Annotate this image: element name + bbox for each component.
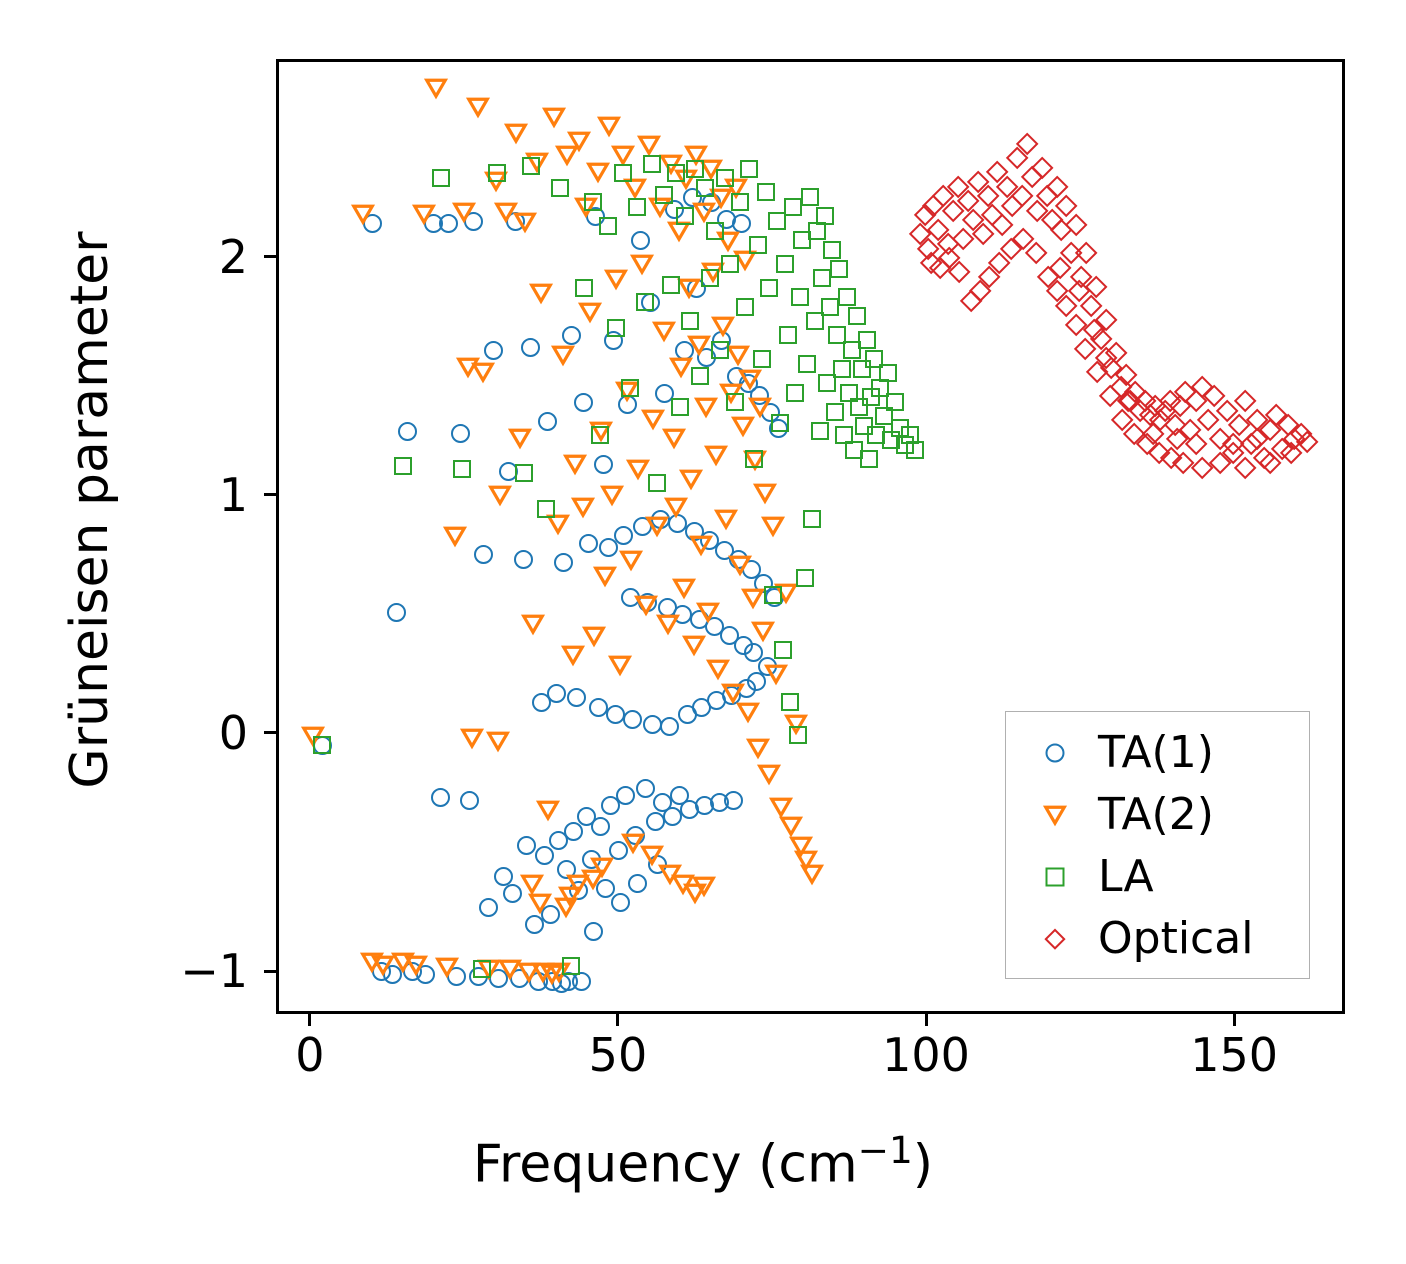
data-point-ta2 [670,357,692,376]
data-point-ta2 [591,857,613,876]
data-point-ta2 [583,626,605,645]
legend-triangle-down-icon [1032,795,1078,835]
data-point-ta2 [579,302,601,321]
data-point-ta2 [758,764,780,783]
data-point-ta2 [657,614,679,633]
data-point-ta2 [695,398,717,417]
data-point-ta2 [747,738,769,757]
legend-label: TA(1) [1098,731,1214,775]
x-tick-label: 150 [1190,1032,1278,1078]
data-point-ta2 [620,550,642,569]
data-point-ta2 [715,510,737,529]
y-axis-label: Grüneisen parameter [60,60,120,960]
data-point-ta2 [529,893,551,912]
x-tick-mark [616,1014,619,1026]
x-tick-label: 100 [882,1032,970,1078]
legend-label: LA [1098,855,1154,899]
data-point-ta2 [444,526,466,545]
data-point-ta2 [752,622,774,641]
data-point-ta2 [598,117,620,136]
data-point-ta2 [568,131,590,150]
data-point-ta2 [641,845,663,864]
legend-label: TA(2) [1098,793,1214,837]
data-point-ta2 [754,483,776,502]
data-point-ta2 [780,817,802,836]
legend-item-ta1[interactable]: TA(1) [1006,722,1309,784]
data-point-ta2 [742,588,764,607]
data-point-ta2 [562,645,584,664]
data-point-ta2 [537,800,559,819]
data-point-ta2 [705,445,727,464]
data-point-ta2 [707,660,729,679]
y-tick-mark [264,493,276,496]
data-point-ta2 [653,321,675,340]
y-tick-label: 2 [219,234,248,280]
data-point-ta2 [690,536,712,555]
data-point-ta2 [605,269,627,288]
legend-box[interactable]: TA(1)TA(2)LAOptical [1005,711,1310,979]
data-point-ta2 [627,460,649,479]
data-point-ta2 [646,517,668,536]
data-point-ta2 [749,398,771,417]
data-point-ta2 [436,957,458,976]
data-point-ta2 [453,202,475,221]
data-point-ta2 [609,655,631,674]
data-point-ta2 [631,255,653,274]
data-point-ta2 [729,555,751,574]
data-point-ta2 [587,162,609,181]
data-point-ta2 [555,898,577,917]
y-tick-label: 0 [219,710,248,756]
data-point-ta2 [413,205,435,224]
data-point-ta2 [552,345,574,364]
data-point-ta2 [530,283,552,302]
data-point-ta2 [487,731,509,750]
data-point-ta2 [683,636,705,655]
data-point-ta2 [612,145,634,164]
x-tick-label: 0 [295,1032,324,1078]
y-tick-label: 1 [219,472,248,518]
data-point-ta2 [739,369,761,388]
data-point-ta2 [642,410,664,429]
data-point-ta2 [722,683,744,702]
y-tick-mark [264,731,276,734]
legend-diamond-icon [1032,919,1078,959]
data-point-ta2 [509,429,531,448]
data-point-ta2 [372,955,394,974]
legend-item-la[interactable]: LA [1006,846,1309,908]
data-point-ta2 [572,498,594,517]
data-point-ta2 [405,955,427,974]
data-point-ta2 [352,205,374,224]
data-point-ta2 [594,567,616,586]
data-point-ta2 [505,124,527,143]
data-point-ta2 [678,279,700,298]
data-point-ta2 [727,345,749,364]
data-point-ta2 [635,595,657,614]
data-point-ta2 [638,136,660,155]
legend-label: Optical [1098,917,1253,961]
data-point-ta2 [770,798,792,817]
x-axis-label-text: Frequency (cm [473,1134,858,1194]
data-point-ta2 [801,864,823,883]
data-point-ta2 [673,579,695,598]
x-axis-label: Frequency (cm−1) [0,1128,1406,1194]
data-point-ta2 [543,107,565,126]
x-axis-label-superscript: −1 [858,1128,913,1172]
data-point-ta2 [732,417,754,436]
data-point-ta2 [765,664,787,683]
data-point-ta2 [564,455,586,474]
legend-circle-icon [1032,733,1078,773]
legend-item-optical[interactable]: Optical [1006,908,1309,970]
x-axis-label-tail: ) [913,1134,933,1194]
data-point-ta2 [514,212,536,231]
x-tick-mark [308,1014,311,1026]
data-point-ta2 [680,469,702,488]
y-tick-label: −1 [180,948,248,994]
legend-item-ta2[interactable]: TA(2) [1006,784,1309,846]
x-tick-mark [925,1014,928,1026]
y-tick-mark [264,255,276,258]
data-point-ta2 [693,876,715,895]
data-point-ta2 [688,336,710,355]
data-point-ta2 [737,702,759,721]
data-point-ta2 [663,429,685,448]
data-point-ta2 [461,729,483,748]
y-tick-mark [264,970,276,973]
data-point-ta2 [601,486,623,505]
legend-square-icon [1032,857,1078,897]
data-point-ta2 [762,517,784,536]
figure-canvas: 050100150−1012 Frequency (cm−1) Grüneise… [0,0,1406,1264]
data-point-ta2 [697,602,719,621]
x-tick-label: 50 [589,1032,648,1078]
data-point-ta2 [712,317,734,336]
data-point-ta2 [665,498,687,517]
x-tick-mark [1233,1014,1236,1026]
data-point-ta2 [521,874,543,893]
data-point-ta2 [472,362,494,381]
data-point-ta2 [467,98,489,117]
data-point-ta2 [489,486,511,505]
data-point-ta2 [522,614,544,633]
data-point-ta2 [425,79,447,98]
